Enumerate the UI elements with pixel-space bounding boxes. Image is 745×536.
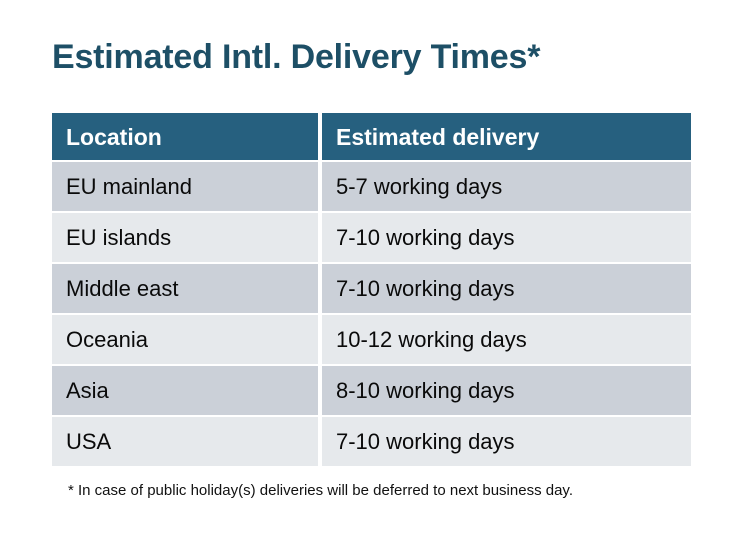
cell-estimated-delivery: 7-10 working days — [322, 213, 691, 262]
cell-estimated-delivery: 8-10 working days — [322, 366, 691, 415]
table-row: EU mainland 5-7 working days — [52, 162, 691, 211]
cell-estimated-delivery: 5-7 working days — [322, 162, 691, 211]
delivery-times-table: Location Estimated delivery EU mainland … — [52, 113, 691, 466]
cell-estimated-delivery: 7-10 working days — [322, 264, 691, 313]
footnote-text: * In case of public holiday(s) deliverie… — [68, 481, 573, 501]
cell-location: Middle east — [52, 264, 318, 313]
table-row: Asia 8-10 working days — [52, 366, 691, 415]
column-header-estimated-delivery: Estimated delivery — [322, 113, 691, 160]
table-row: EU islands 7-10 working days — [52, 213, 691, 262]
column-header-location: Location — [52, 113, 318, 160]
cell-location: EU islands — [52, 213, 318, 262]
cell-estimated-delivery: 7-10 working days — [322, 417, 691, 466]
table-row: USA 7-10 working days — [52, 417, 691, 466]
cell-location: EU mainland — [52, 162, 318, 211]
table-header-row: Location Estimated delivery — [52, 113, 691, 160]
cell-location: USA — [52, 417, 318, 466]
delivery-times-page: Estimated Intl. Delivery Times* Location… — [0, 0, 745, 536]
table-row: Oceania 10-12 working days — [52, 315, 691, 364]
table-row: Middle east 7-10 working days — [52, 264, 691, 313]
page-title: Estimated Intl. Delivery Times* — [52, 36, 540, 78]
cell-estimated-delivery: 10-12 working days — [322, 315, 691, 364]
cell-location: Asia — [52, 366, 318, 415]
cell-location: Oceania — [52, 315, 318, 364]
